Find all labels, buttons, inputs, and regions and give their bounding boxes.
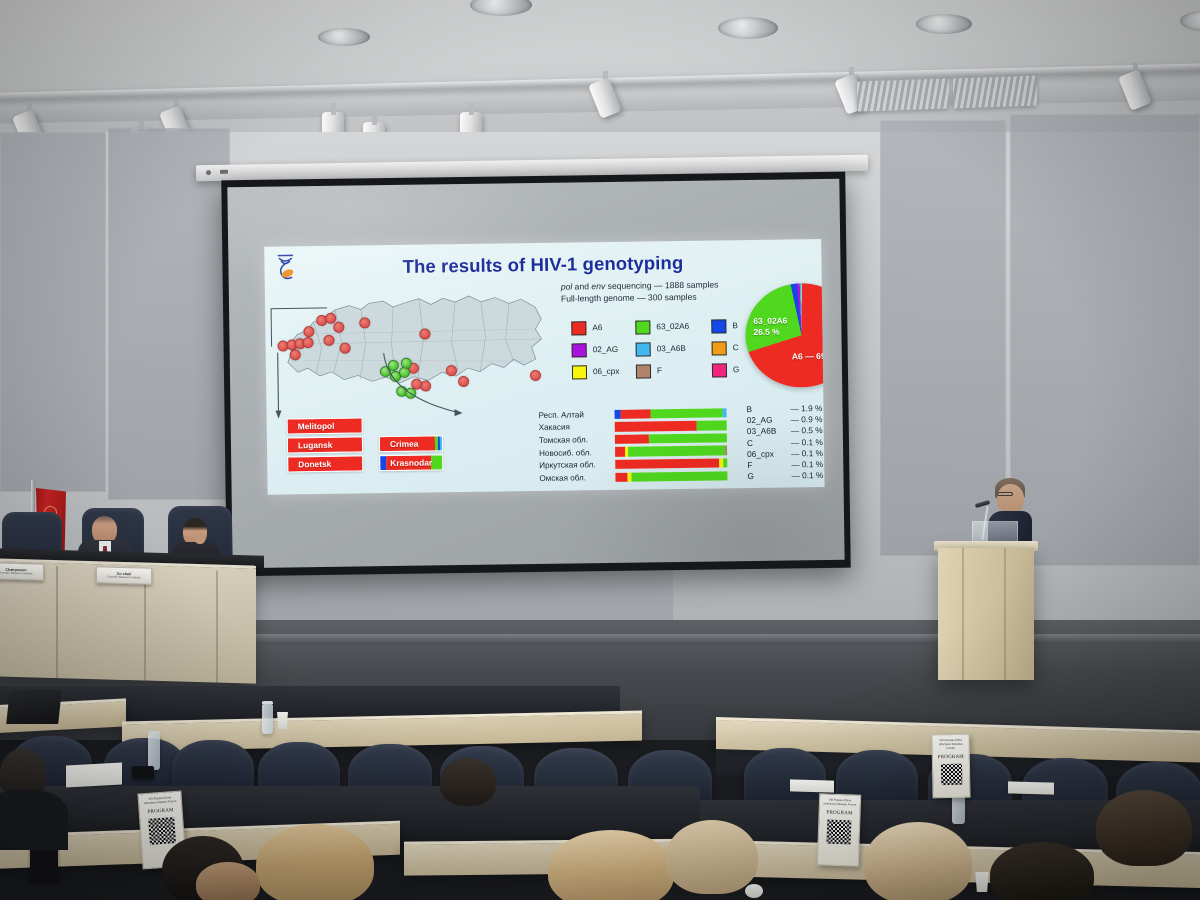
legend-item: F [636, 361, 690, 381]
audience-head [864, 822, 972, 900]
nameplate: Chairperson Scientific Research Institut… [0, 562, 44, 581]
program-header-line2: Infectious Disease Forum [822, 802, 858, 807]
map-marker-red [323, 335, 334, 346]
program-sign-title: PROGRAM [820, 810, 860, 816]
pie-label-line1: 63_02A6 [753, 315, 787, 326]
air-vent [953, 76, 1037, 109]
paper-cup[interactable] [974, 872, 990, 892]
map-marker-red [302, 337, 313, 348]
handout-papers[interactable] [1008, 781, 1054, 794]
russia-map [273, 285, 553, 411]
legend-swatch-02ag [572, 343, 587, 357]
stat-name: 06_cpx [747, 448, 791, 460]
caption-suffix: sequencing — 1888 samples [605, 279, 718, 291]
city-label: Krasnodar [380, 457, 432, 468]
region-bar-chart: Респ. Алтай Хакасия [538, 406, 727, 484]
region-label: Томская обл. [539, 435, 615, 445]
map-marker-red [446, 365, 457, 376]
stat-value: — 0.1 % [791, 447, 825, 459]
map-marker-red [359, 317, 370, 328]
presenter-head [997, 484, 1024, 514]
region-row: Омская обл. [539, 469, 727, 484]
slide-caption: pol and env sequencing — 1888 samples Fu… [561, 278, 719, 305]
legend-item: 63_02A6 [635, 317, 689, 337]
paper-cup[interactable] [745, 884, 763, 898]
pie-label-a6: A6 — 69.8 % [792, 351, 825, 362]
region-bar [615, 421, 727, 432]
region-bar [615, 446, 727, 457]
spotlight [594, 80, 616, 116]
recessed-light [916, 14, 972, 34]
city-bar-krasnodar: Krasnodar [379, 454, 443, 471]
legend-label: B [732, 321, 738, 330]
legend-swatch-06cpx [572, 365, 587, 379]
city-bar-crimea: Crimea [379, 435, 443, 452]
legend-swatch-f [636, 364, 651, 378]
map-marker-red [458, 376, 469, 387]
legend-label: 06_cpx [593, 367, 620, 376]
legend-swatch-c [712, 341, 727, 355]
water-bottle[interactable] [262, 704, 273, 734]
nameplate-subtitle: Scientific Research Institute [97, 575, 151, 580]
recessed-light [318, 28, 370, 46]
region-bar [615, 471, 727, 482]
presenter-glasses [997, 492, 1013, 496]
screen-surface: The results of HIV-1 genotyping pol and … [227, 179, 844, 569]
legend-swatch-a6 [571, 321, 586, 335]
stat-name: C [747, 437, 791, 449]
audience-head [666, 820, 758, 894]
program-sign-title: PROGRAM [933, 754, 969, 760]
stat-value: — 1.9 % [790, 403, 824, 415]
wall-panel [0, 132, 106, 492]
program-sign-header: VIII Russia-China Infectious Disease For… [139, 796, 181, 807]
auditorium-photo: The results of HIV-1 genotyping pol and … [0, 0, 1200, 900]
program-sign-header: VIII Russia-China Infectious Disease For… [820, 798, 860, 807]
legend-label: G [733, 365, 740, 374]
audience-head [548, 830, 674, 900]
caption-italic-pol: pol [561, 281, 573, 291]
qr-code[interactable] [940, 764, 961, 785]
recessed-light [718, 17, 778, 39]
region-bar [615, 433, 727, 444]
stat-value: — 0.1 % [791, 436, 825, 448]
city-label: Lugansk [288, 440, 333, 451]
legend-swatch-b [711, 319, 726, 333]
wall-panel [1010, 114, 1200, 566]
map-marker-red [333, 322, 344, 333]
caption-italic-env: env [591, 281, 605, 291]
slide-legend: A6 02_AG 06_cpx [571, 316, 731, 318]
program-sign[interactable]: VIII Russia-China Infectious Disease For… [931, 734, 970, 799]
legend-label: C [733, 343, 739, 352]
map-marker-red [290, 349, 301, 360]
nameplate: Co-chair Scientific Research Institute [96, 566, 152, 585]
spotlight [1124, 72, 1146, 108]
legend-label: 63_02A6 [656, 322, 689, 331]
region-label: Хакасия [539, 422, 615, 432]
audience-chair[interactable] [744, 748, 826, 808]
program-sign[interactable]: VIII Russia-China Infectious Disease For… [817, 793, 861, 866]
map-marker-red [419, 328, 430, 339]
stat-name: 02_AG [747, 415, 791, 427]
stat-name: 03_A6B [747, 426, 791, 438]
stat-value: — 0.1 % [791, 470, 824, 482]
speaker-podium[interactable] [938, 548, 1034, 680]
region-label: Новосиб. обл. [539, 447, 615, 457]
legend-label: F [657, 366, 662, 375]
city-label: Crimea [380, 439, 419, 450]
region-label: Респ. Алтай [539, 410, 615, 420]
legend-label: 03_A6B [657, 344, 686, 353]
city-bar-melitopol: Melitopol [287, 417, 363, 434]
program-header-line2: Infectious Disease Forum [141, 800, 179, 807]
legend-label: 02_AG [593, 345, 619, 354]
program-sign-title: PROGRAM [140, 807, 182, 815]
city-bar-donetsk: Donetsk [287, 455, 363, 472]
laptop[interactable] [6, 690, 62, 724]
map-marker-green [405, 388, 416, 399]
handout-papers[interactable] [790, 779, 834, 792]
slide-title: The results of HIV-1 genotyping [264, 250, 821, 280]
stat-value: — 0.5 % [791, 425, 825, 437]
map-marker-red [340, 343, 351, 354]
water-bottle[interactable] [148, 734, 160, 770]
stat-name: F [747, 459, 791, 471]
audience-head [440, 758, 496, 806]
map-marker-green [401, 358, 412, 369]
air-vent [857, 78, 949, 111]
wall-panel [108, 128, 230, 500]
projection-screen[interactable]: The results of HIV-1 genotyping pol and … [221, 172, 850, 577]
legend-item: 06_cpx [572, 362, 620, 382]
region-bar [615, 458, 727, 469]
recessed-light [470, 0, 532, 16]
legend-item: G [712, 360, 740, 379]
legend-item: 03_A6B [636, 339, 690, 359]
pie-label-63-02a6: 63_02A6 26.5 % [753, 315, 787, 336]
program-header-line2: Infectious Disease Forum [935, 743, 967, 751]
smartphone[interactable] [132, 766, 154, 779]
region-label: Омская обл. [539, 473, 615, 483]
city-bar-lugansk: Lugansk [287, 436, 363, 453]
recessed-light [1180, 10, 1200, 32]
wall-panel [880, 120, 1006, 556]
region-label: Иркутская обл. [539, 460, 615, 470]
legend-swatch-6302a6 [635, 320, 650, 334]
program-sign-header: VIII Russia-China Infectious Disease For… [933, 739, 969, 751]
presentation-slide: The results of HIV-1 genotyping pol and … [264, 239, 824, 495]
legend-item: C [712, 338, 740, 357]
qr-code[interactable] [148, 817, 176, 845]
subtype-stats-list: B— 1.9 % 02_AG— 0.9 % 03_A6B— 0.5 % C— 0… [746, 403, 824, 483]
legend-swatch-g [712, 363, 727, 377]
nameplate-subtitle: Scientific Research Institute [0, 571, 43, 576]
audience-head [256, 824, 374, 900]
audience-head [196, 862, 260, 900]
handout-papers[interactable] [66, 763, 122, 788]
pie-chart: A6 — 69.8 % 63_02A6 26.5 % [745, 282, 825, 396]
audience-head [990, 842, 1094, 900]
city-label: Melitopol [288, 421, 335, 432]
city-label: Donetsk [288, 459, 331, 470]
stat-value: — 0.1 % [791, 459, 824, 471]
legend-item: A6 [571, 318, 619, 338]
qr-code[interactable] [827, 819, 852, 844]
legend-label: A6 [592, 323, 602, 332]
caption-mid: and [572, 281, 591, 291]
stat-name: G [747, 471, 791, 483]
audience-body [0, 790, 68, 850]
pie-label-line2: 26.5 % [753, 326, 787, 337]
region-bar [615, 408, 727, 419]
stat-value: — 0.9 % [791, 414, 825, 426]
legend-swatch-03a6b [636, 342, 651, 356]
map-marker-red [303, 326, 314, 337]
panelist-hand [195, 532, 205, 544]
legend-item: B [711, 316, 739, 335]
stat-row: G— 0.1 % [747, 470, 824, 483]
audience-head [1096, 790, 1192, 866]
legend-item: 02_AG [572, 340, 620, 360]
caption-line-2: Full-length genome — 300 samples [561, 291, 719, 305]
stat-name: B [746, 403, 790, 415]
